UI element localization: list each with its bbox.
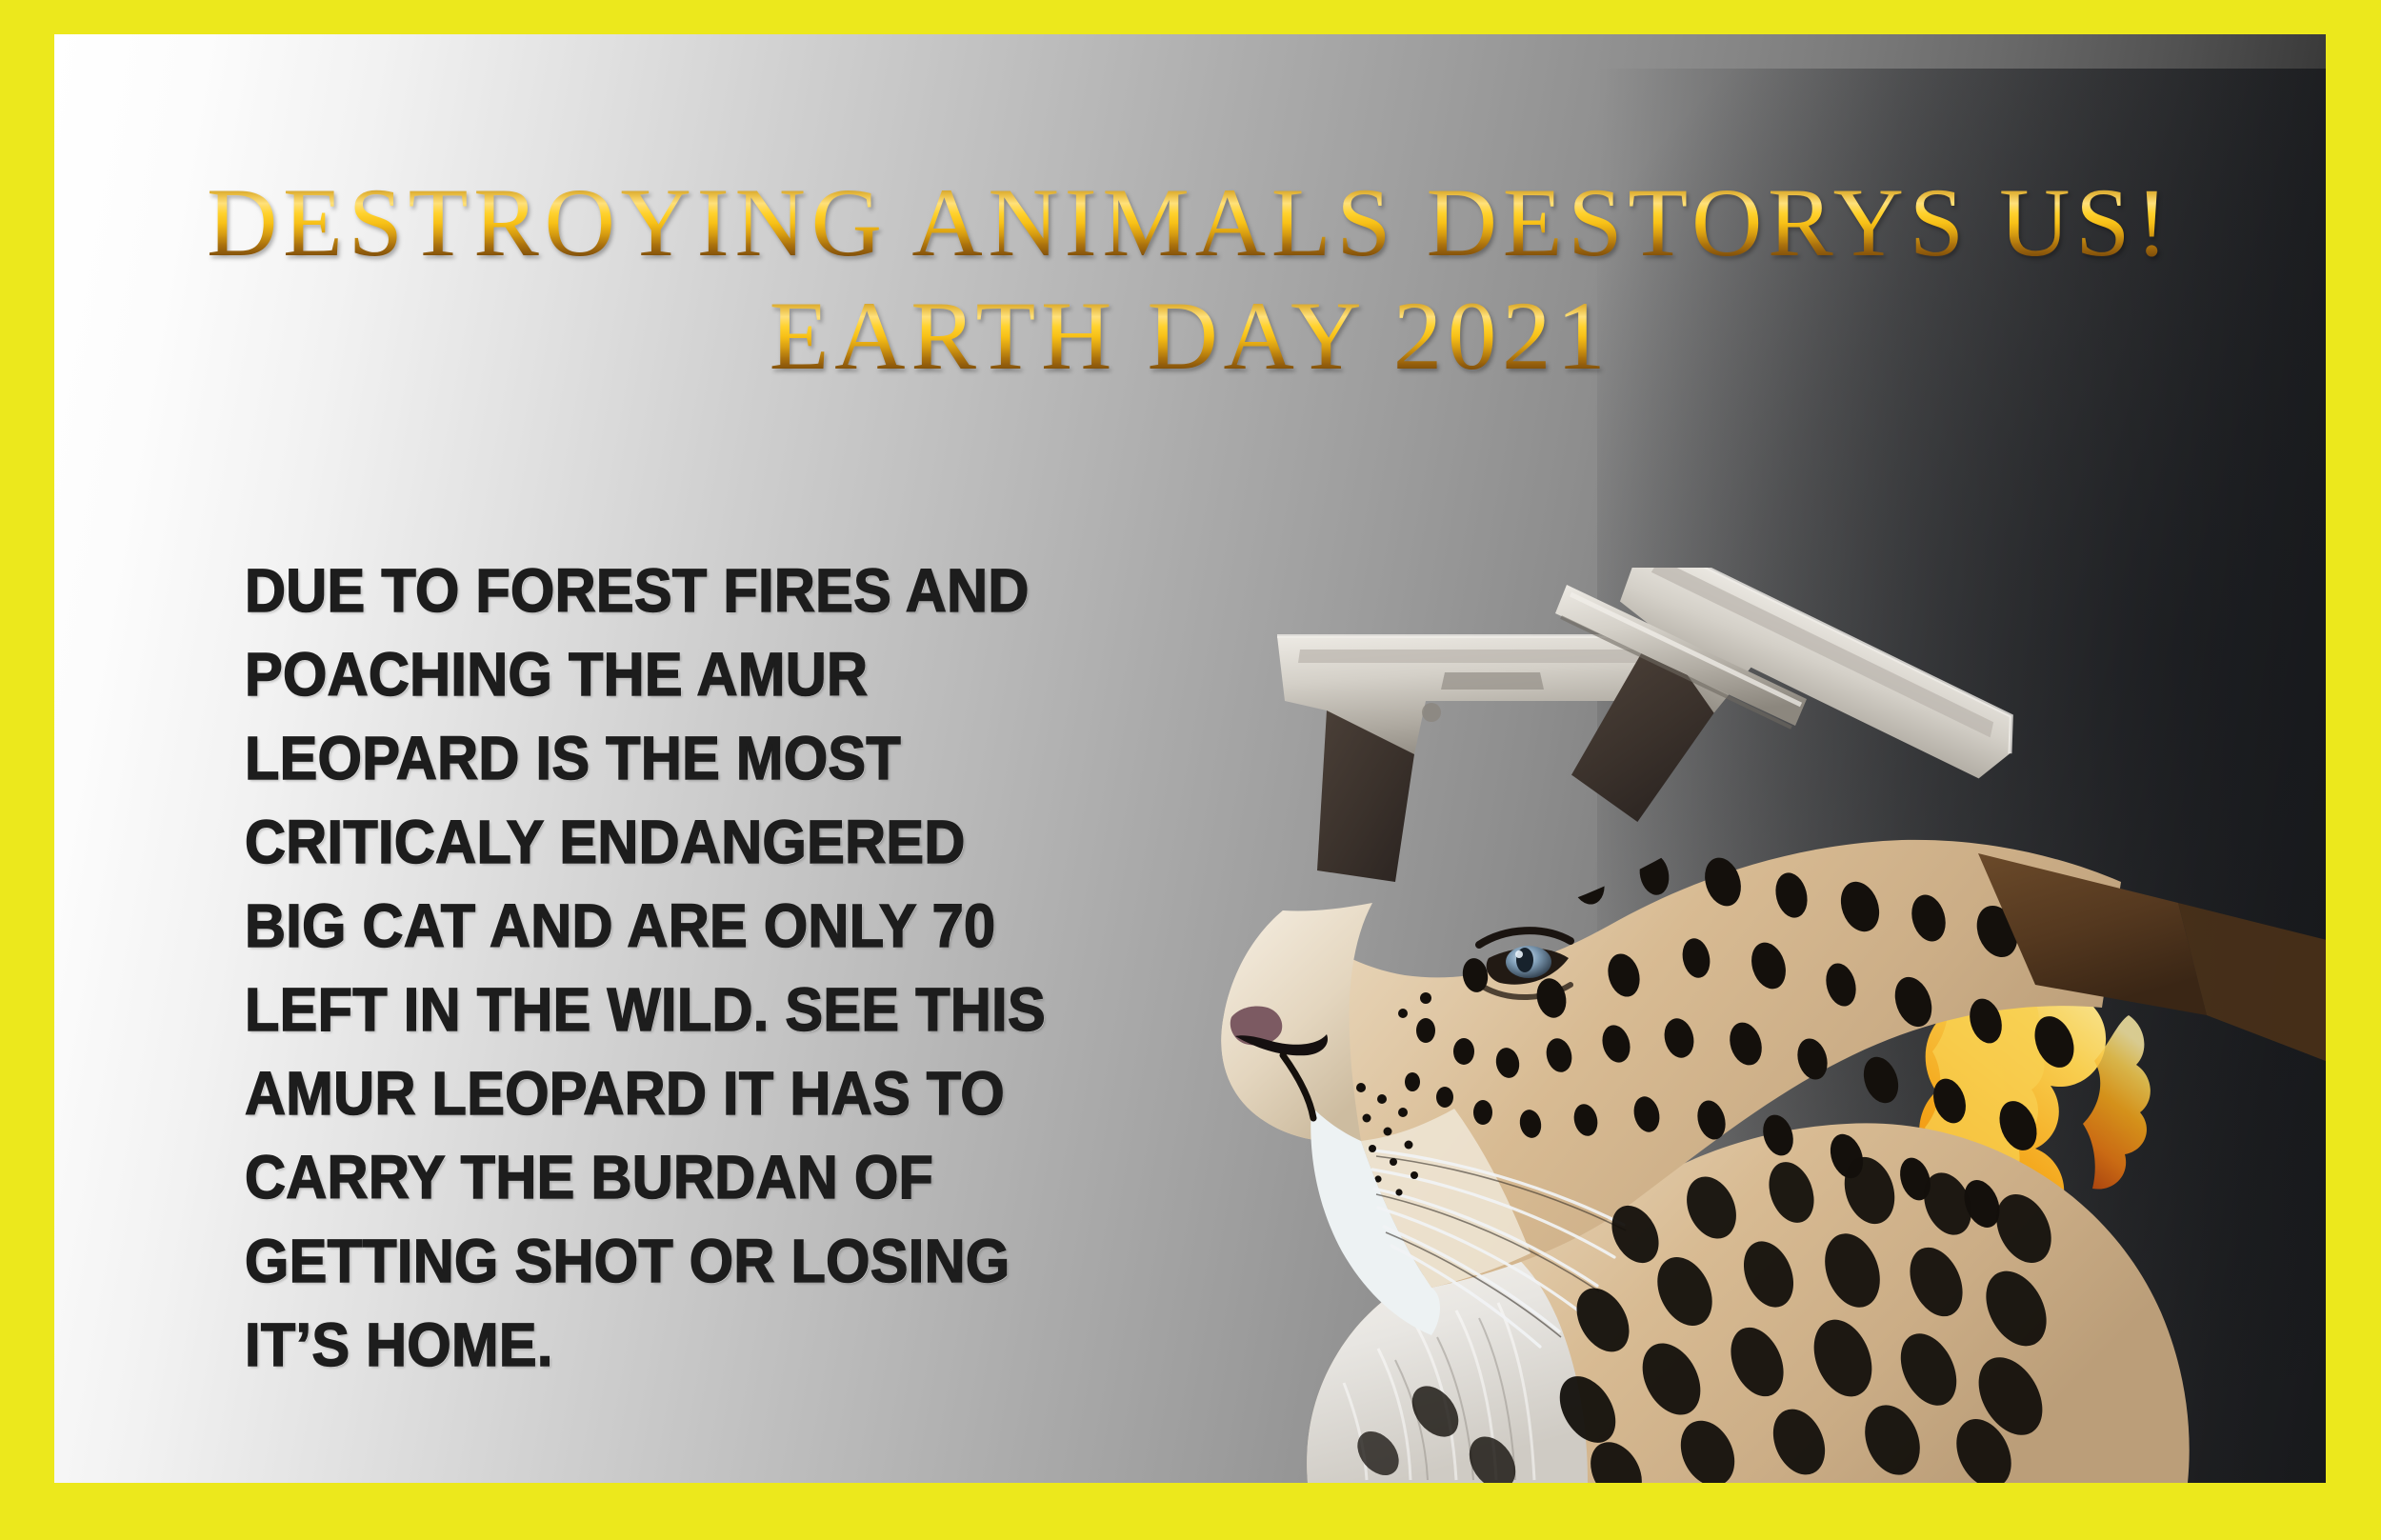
body-line: BIG CAT AND ARE ONLY 70 [245, 884, 1087, 968]
body-line: IT’S HOME. [245, 1303, 1087, 1387]
poster-canvas: DESTROYING ANIMALS DESTORYS US! EARTH DA… [54, 34, 2326, 1483]
poster-body-copy: DUE TO FOREST FIRES AND POACHING THE AMU… [245, 549, 1150, 1387]
poster-title-line-2: EARTH DAY 2021 [54, 287, 2326, 387]
earth-day-poster: DESTROYING ANIMALS DESTORYS US! EARTH DA… [0, 0, 2381, 1540]
poster-titles: DESTROYING ANIMALS DESTORYS US! EARTH DA… [54, 173, 2326, 387]
poster-title-line-1: DESTROYING ANIMALS DESTORYS US! [54, 173, 2326, 273]
body-line: CRITICALY ENDANGERED [245, 800, 1087, 884]
body-line: LEOPARD IS THE MOST [245, 716, 1087, 800]
body-line: DUE TO FOREST FIRES AND [245, 549, 1087, 632]
body-line: GETTING SHOT OR LOSING [245, 1219, 1087, 1303]
body-line: LEFT IN THE WILD. SEE THIS [245, 968, 1087, 1051]
body-line: POACHING THE AMUR [245, 632, 1087, 716]
body-line: CARRY THE BURDAN OF [245, 1135, 1087, 1219]
body-line: AMUR LEOPARD IT HAS TO [245, 1051, 1087, 1135]
leopard-artwork [1140, 568, 2326, 1483]
